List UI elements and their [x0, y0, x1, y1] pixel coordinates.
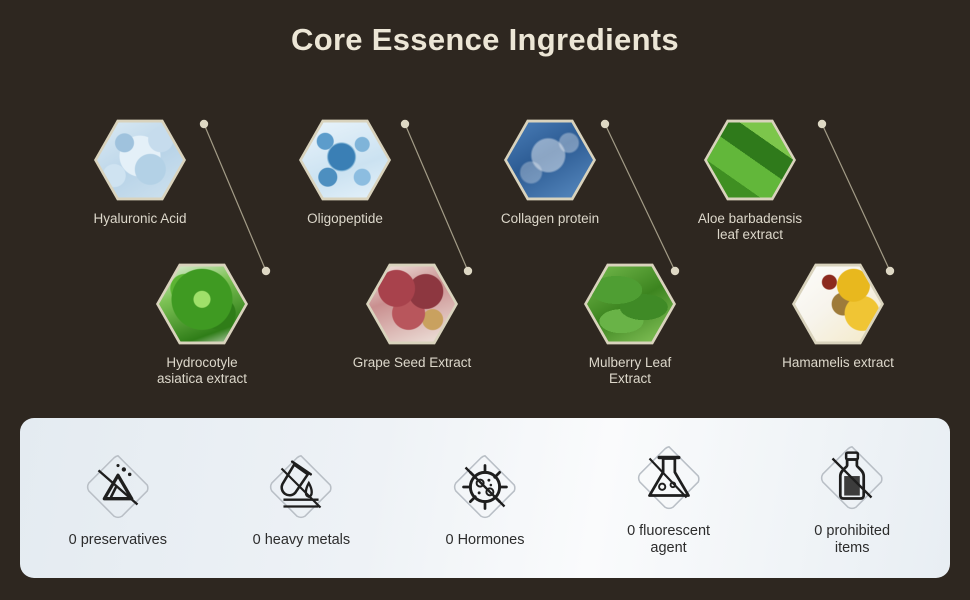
ingredient-grape-seed-extract[interactable]: Grape Seed Extract — [352, 262, 472, 371]
ingredient-label: Hyaluronic Acid — [80, 211, 200, 227]
no-preservatives-icon — [79, 448, 157, 526]
ingredient-hexagon — [94, 118, 186, 202]
ingredient-image — [302, 121, 388, 199]
ingredient-hexagon — [156, 262, 248, 346]
claim-no-heavy-metals[interactable]: 0 heavy metals — [217, 448, 385, 549]
ingredient-hexagon — [504, 118, 596, 202]
ingredients-infographic: Core Essence Ingredients Hyaluronic Acid… — [0, 0, 970, 600]
ingredient-hexagon — [584, 262, 676, 346]
claim-label: 0 Hormones — [401, 532, 569, 549]
claim-no-prohibited-items[interactable]: 0 prohibited items — [768, 439, 936, 557]
page-title: Core Essence Ingredients — [0, 22, 970, 58]
ingredient-label: Grape Seed Extract — [352, 355, 472, 371]
claim-no-preservatives[interactable]: 0 preservatives — [34, 448, 202, 549]
ingredient-image — [159, 265, 245, 343]
claim-no-fluorescent-agent[interactable]: 0 fluorescent agent — [585, 439, 753, 557]
ingredient-label: Collagen protein — [490, 211, 610, 227]
ingredient-hexagon — [366, 262, 458, 346]
claim-no-hormones[interactable]: 0 Hormones — [401, 448, 569, 549]
ingredient-label: Hydrocotyle asiatica extract — [142, 355, 262, 387]
ingredient-hyaluronic-acid[interactable]: Hyaluronic Acid — [80, 118, 200, 227]
claim-label: 0 heavy metals — [217, 532, 385, 549]
connector-line-2 — [605, 124, 675, 271]
no-fluorescent-agent-icon — [630, 439, 708, 517]
connector-dot-0-0 — [200, 120, 208, 128]
claim-label: 0 fluorescent agent — [585, 523, 753, 557]
ingredient-image — [795, 265, 881, 343]
ingredient-label: Aloe barbadensis leaf extract — [690, 211, 810, 243]
ingredient-label: Oligopeptide — [285, 211, 405, 227]
ingredient-image — [369, 265, 455, 343]
connector-dot-3-0 — [818, 120, 826, 128]
ingredient-hydrocotyle-asiatica[interactable]: Hydrocotyle asiatica extract — [142, 262, 262, 387]
ingredient-aloe-barbadensis[interactable]: Aloe barbadensis leaf extract — [690, 118, 810, 243]
connector-line-1 — [405, 124, 468, 271]
claims-panel: 0 preservatives 0 heavy metals — [20, 418, 950, 578]
ingredient-image — [587, 265, 673, 343]
claim-label: 0 prohibited items — [768, 523, 936, 557]
claim-label: 0 preservatives — [34, 532, 202, 549]
ingredient-hexagon — [704, 118, 796, 202]
ingredient-hamamelis-extract[interactable]: Hamamelis extract — [778, 262, 898, 371]
no-prohibited-items-icon — [813, 439, 891, 517]
ingredient-mulberry-leaf-extract[interactable]: Mulberry Leaf Extract — [570, 262, 690, 387]
ingredient-label: Mulberry Leaf Extract — [570, 355, 690, 387]
ingredient-image — [707, 121, 793, 199]
ingredient-hexagon — [792, 262, 884, 346]
ingredient-label: Hamamelis extract — [778, 355, 898, 371]
connector-dot-0-1 — [262, 267, 270, 275]
ingredient-image — [507, 121, 593, 199]
no-heavy-metals-icon — [262, 448, 340, 526]
connector-line-3 — [822, 124, 890, 271]
ingredient-oligopeptide[interactable]: Oligopeptide — [285, 118, 405, 227]
ingredient-hexagon — [299, 118, 391, 202]
ingredient-collagen-protein[interactable]: Collagen protein — [490, 118, 610, 227]
connector-line-0 — [204, 124, 266, 271]
ingredient-image — [97, 121, 183, 199]
no-hormones-icon — [446, 448, 524, 526]
